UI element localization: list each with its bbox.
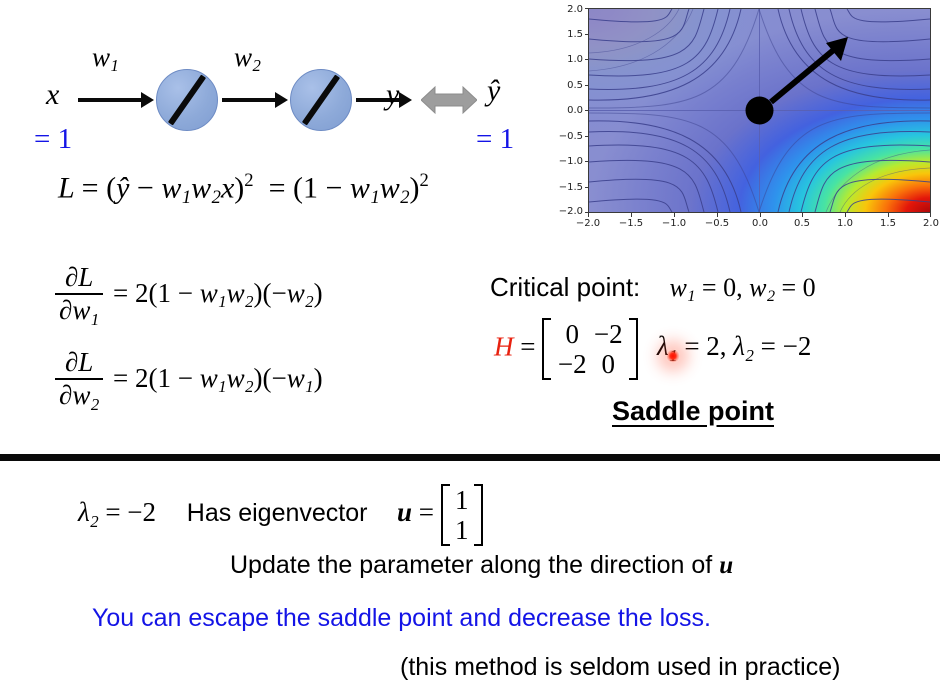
critical-point-marker — [746, 97, 774, 125]
ytick-mark — [585, 8, 589, 9]
practice-note-line: (this method is seldom used in practice) — [400, 653, 840, 682]
weight1-label: w1 — [92, 44, 119, 75]
loss-equation: L = (ŷ − w1w2x)2 = (1 − w1w2)2 — [58, 172, 429, 208]
gradient-equation-w1: ∂L ∂w1 = 2(1 − w1w2)(−w2) — [52, 263, 323, 329]
xtick-mark — [717, 213, 718, 217]
xtick-mark — [845, 213, 846, 217]
ytick-label: 0.5 — [549, 80, 583, 91]
input-value: = 1 — [34, 123, 72, 156]
arrow-node2-to-y-head — [399, 92, 412, 108]
xtick-label: −1.5 — [614, 218, 648, 229]
xtick-mark — [888, 213, 889, 217]
loss-surface-contour-plot: 2.0 1.5 1.0 0.5 0.0 −0.5 −1.0 −1.5 −2.0 … — [545, 0, 940, 240]
ytick-label: 1.0 — [549, 54, 583, 65]
xtick-mark — [802, 213, 803, 217]
update-direction-symbol: u — [719, 552, 733, 579]
neuron-node-1 — [156, 69, 218, 131]
target-value: = 1 — [476, 123, 514, 156]
xtick-label: −1.0 — [657, 218, 691, 229]
ytick-mark — [585, 34, 589, 35]
critical-point-values: w1 = 0, w2 = 0 — [670, 273, 816, 302]
partial-derivative-fraction: ∂L ∂w2 — [55, 348, 103, 414]
update-direction-line: Update the parameter along the direction… — [230, 551, 733, 580]
xtick-label: 0.0 — [743, 218, 777, 229]
xtick-mark — [674, 213, 675, 217]
ytick-mark — [585, 187, 589, 188]
lambda2-value: λ2 = −2 — [78, 497, 163, 527]
neuron-node-2 — [290, 69, 352, 131]
target-label: ŷ — [487, 76, 500, 106]
gradient-equation-w2: ∂L ∂w2 = 2(1 − w1w2)(−w1) — [52, 348, 323, 414]
xtick-label: 1.0 — [828, 218, 862, 229]
critical-point-line: Critical point: w1 = 0, w2 = 0 — [490, 272, 816, 305]
saddle-point-label: Saddle point — [612, 396, 774, 427]
output-label: y — [386, 80, 399, 110]
xtick-label: 2.0 — [914, 218, 940, 229]
ytick-mark — [585, 59, 589, 60]
ytick-label: −2.0 — [549, 206, 583, 217]
ytick-label: −1.0 — [549, 156, 583, 167]
network-diagram: x = 1 w1 w2 y ŷ = 1 — [0, 28, 560, 158]
xtick-mark — [631, 213, 632, 217]
ytick-label: −0.5 — [549, 131, 583, 142]
xtick-label: 0.5 — [785, 218, 819, 229]
ytick-label: 1.5 — [549, 29, 583, 40]
eigenvalues: λ1 = 2, λ2 = −2 — [657, 331, 811, 361]
ytick-label: 2.0 — [549, 4, 583, 15]
ytick-label: −1.5 — [549, 182, 583, 193]
xtick-label: −0.5 — [700, 218, 734, 229]
hessian-equals: = — [520, 331, 535, 361]
xtick-mark — [760, 213, 761, 217]
ytick-mark — [585, 161, 589, 162]
partial-derivative-fraction: ∂L ∂w1 — [55, 263, 103, 329]
xtick-label: 1.5 — [871, 218, 905, 229]
hessian-equation: H = 0−2 −20 λ1 = 2, λ2 = −2 — [494, 318, 811, 380]
ytick-label: 0.0 — [549, 105, 583, 116]
arrow-x-to-node1-line — [78, 98, 142, 102]
hessian-symbol: H — [494, 331, 514, 361]
ytick-mark — [585, 136, 589, 137]
update-direction-text: Update the parameter along the direction… — [230, 551, 712, 579]
xtick-label: −2.0 — [571, 218, 605, 229]
u-vector: 1 1 — [441, 484, 483, 546]
double-arrow-icon — [421, 85, 477, 115]
matrix-row: −20 — [554, 349, 626, 379]
ytick-mark — [585, 110, 589, 111]
critical-point-label: Critical point: — [490, 272, 640, 302]
xtick-mark — [930, 213, 931, 217]
ytick-mark — [585, 85, 589, 86]
weight2-label: w2 — [234, 44, 261, 75]
contour-surface — [589, 9, 930, 212]
section-divider — [0, 454, 940, 461]
plot-area — [588, 8, 931, 213]
arrow-node1-to-node2-head — [275, 92, 288, 108]
escape-saddle-line: You can escape the saddle point and decr… — [92, 604, 711, 633]
xtick-mark — [588, 213, 589, 217]
matrix-row: 0−2 — [554, 319, 626, 349]
has-eigenvector-label: Has eigenvector — [187, 499, 368, 527]
eigenvector-u: u = 1 1 — [397, 497, 483, 527]
arrow-node1-to-node2-line — [222, 98, 276, 102]
input-label: x — [46, 80, 59, 110]
arrow-x-to-node1-head — [141, 92, 154, 108]
eigenvector-line: λ2 = −2 Has eigenvector u = 1 1 — [78, 484, 483, 546]
hessian-matrix: 0−2 −20 — [542, 318, 638, 380]
